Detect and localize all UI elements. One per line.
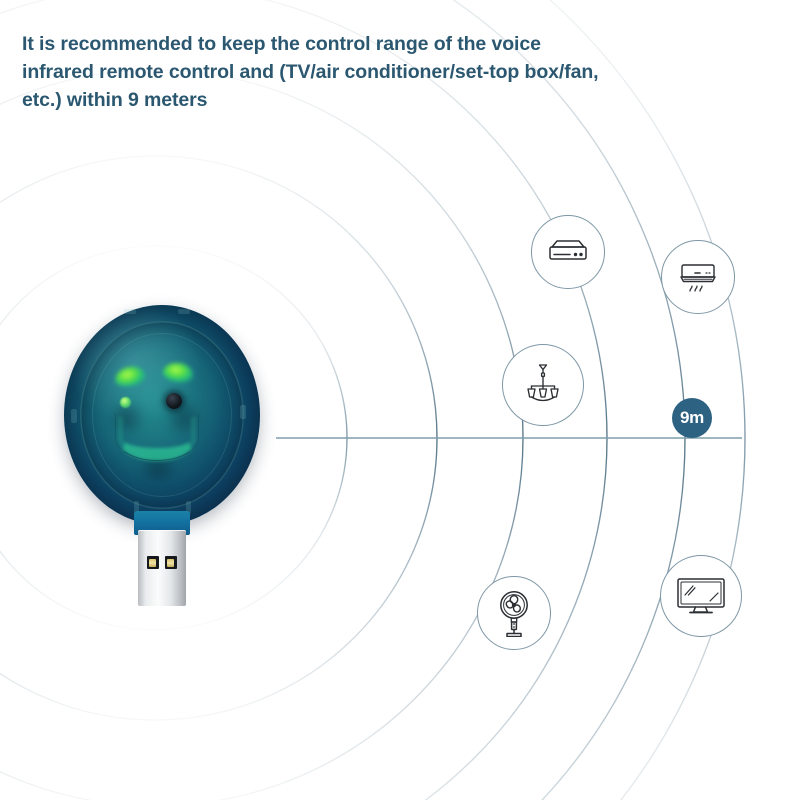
page-title: It is recommended to keep the control ra… [22, 30, 722, 114]
usb-ir-dongle[interactable] [58, 305, 258, 615]
fan-icon [493, 589, 535, 637]
rim-notch-top-right [178, 309, 190, 314]
usb-connector [138, 530, 186, 606]
device-bubble-set-top-box[interactable] [531, 215, 605, 289]
rim-notch-left [71, 409, 77, 423]
ir-receiver-icon [166, 393, 182, 409]
device-bubble-fan[interactable] [477, 576, 551, 650]
rim-notch-right [240, 405, 246, 419]
rim-notch-top-left [124, 309, 136, 314]
device-bubble-air-conditioner[interactable] [661, 240, 735, 314]
distance-badge: 9m [672, 398, 712, 438]
smile-outline [115, 413, 199, 461]
usb-contact-left [147, 556, 159, 569]
air-conditioner-icon [675, 257, 721, 297]
set-top-box-icon [546, 236, 590, 268]
status-led-icon [120, 397, 131, 408]
usb-contact-right [165, 556, 177, 569]
device-bubble-chandelier[interactable] [502, 344, 584, 426]
diagram-canvas: It is recommended to keep the control ra… [0, 0, 800, 800]
chandelier-icon [519, 360, 567, 410]
device-bubble-tv[interactable] [660, 555, 742, 637]
tv-icon [674, 574, 728, 618]
